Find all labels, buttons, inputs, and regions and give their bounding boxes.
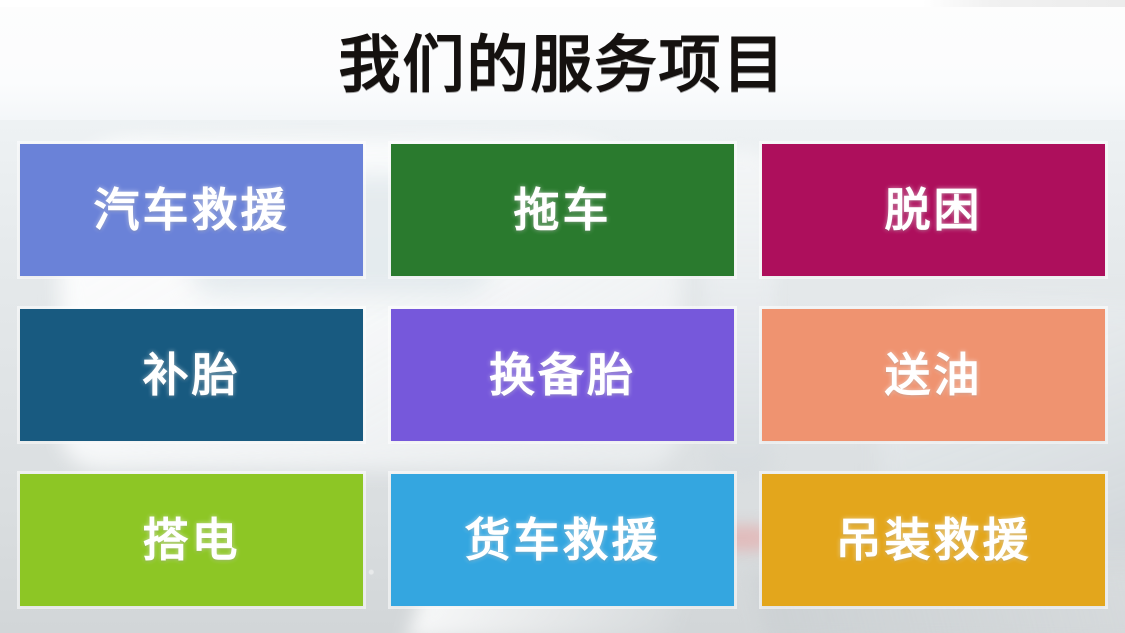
title-bar: 我们的服务项目 <box>0 18 1125 113</box>
tile-tire-repair[interactable]: 补胎 <box>20 309 363 441</box>
tile-tow-truck[interactable]: 拖车 <box>391 144 734 276</box>
page-title: 我们的服务项目 <box>338 35 786 97</box>
tile-label: 汽车救援 <box>94 187 290 233</box>
tile-label: 货车救援 <box>465 517 661 563</box>
tile-truck-rescue[interactable]: 货车救援 <box>391 474 734 606</box>
tile-label: 送油 <box>885 352 983 398</box>
tile-label: 补胎 <box>143 352 241 398</box>
tile-label: 拖车 <box>514 187 612 233</box>
tile-jump-start[interactable]: 搭电 <box>20 474 363 606</box>
tile-label: 换备胎 <box>489 352 636 398</box>
tile-extrication[interactable]: 脱困 <box>762 144 1105 276</box>
service-tile-grid: 汽车救援 拖车 脱困 补胎 换备胎 送油 搭电 货车救援 吊装救援 <box>20 144 1105 609</box>
tile-car-rescue[interactable]: 汽车救援 <box>20 144 363 276</box>
service-poster: 我们的服务项目 汽车救援 拖车 脱困 补胎 换备胎 送油 搭电 货车救援 吊装救… <box>0 0 1125 633</box>
tile-spare-tire[interactable]: 换备胎 <box>391 309 734 441</box>
background-top-strip <box>0 0 1125 7</box>
tile-label: 吊装救援 <box>836 517 1032 563</box>
tile-fuel-delivery[interactable]: 送油 <box>762 309 1105 441</box>
tile-hoist-rescue[interactable]: 吊装救援 <box>762 474 1105 606</box>
tile-label: 搭电 <box>143 517 241 563</box>
tile-label: 脱困 <box>885 187 983 233</box>
